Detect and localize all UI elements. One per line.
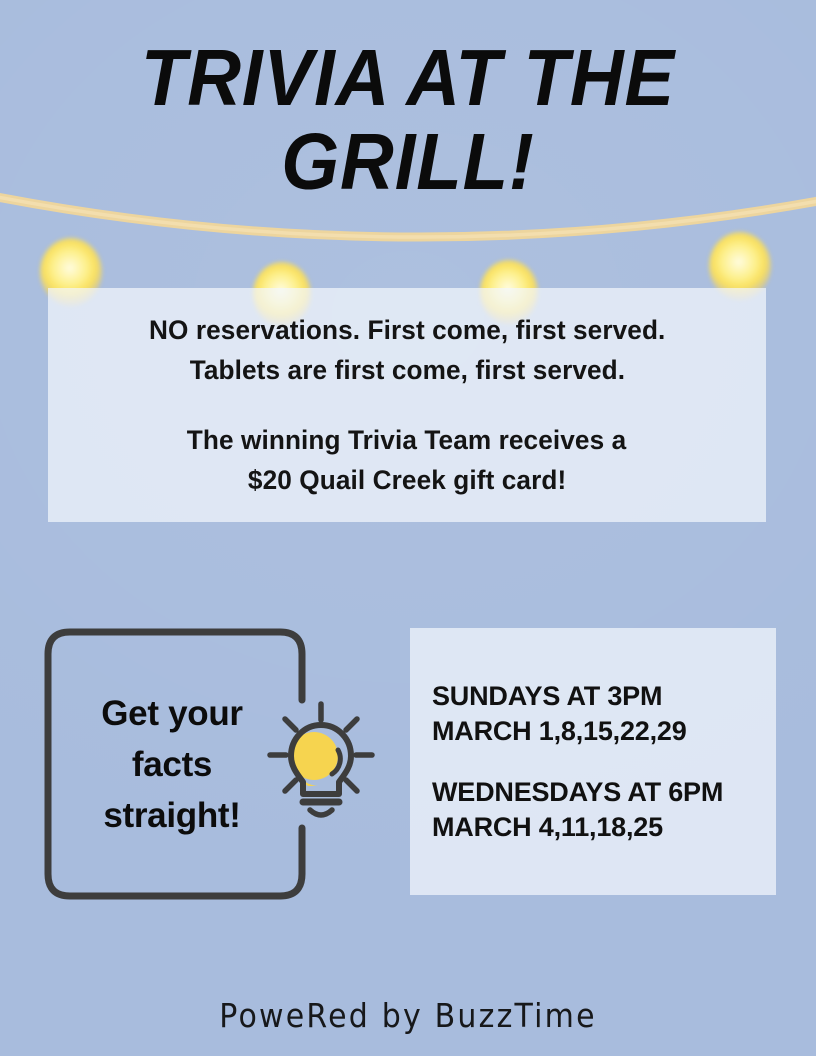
footer: PoweRed by BuzzTime	[0, 998, 816, 1036]
title-line-1: TRIVIA AT THE	[29, 36, 788, 120]
title-line-2: GRILL!	[29, 120, 788, 204]
info-line-4: $20 Quail Creek gift card!	[248, 460, 566, 500]
info-line-2: Tablets are first come, first served.	[189, 350, 624, 390]
page-title: TRIVIA AT THE GRILL!	[0, 36, 816, 204]
info-line-1: NO reservations. First come, first serve…	[149, 310, 665, 350]
schedule-day-2: WEDNESDAYS AT 6PM	[432, 775, 772, 810]
schedule-dates-2: MARCH 4,11,18,25	[432, 810, 772, 845]
facts-line-3: straight!	[103, 790, 240, 841]
info-line-3: The winning Trivia Team receives a	[187, 420, 627, 460]
lightbulb-icon	[262, 698, 380, 831]
info-panel: NO reservations. First come, first serve…	[48, 288, 766, 522]
flyer-page: TRIVIA AT THE GRILL! NO reservations. Fi…	[0, 0, 816, 1056]
facts-line-1: Get your	[101, 688, 243, 739]
schedule-dates-1: MARCH 1,8,15,22,29	[432, 714, 772, 749]
schedule-day-1: SUNDAYS AT 3PM	[432, 679, 772, 714]
schedule-panel: SUNDAYS AT 3PM MARCH 1,8,15,22,29 WEDNES…	[432, 628, 772, 895]
facts-line-2: facts	[132, 739, 212, 790]
schedule-spacer	[432, 749, 772, 775]
footer-credit: PoweRed by BuzzTime	[219, 996, 597, 1038]
